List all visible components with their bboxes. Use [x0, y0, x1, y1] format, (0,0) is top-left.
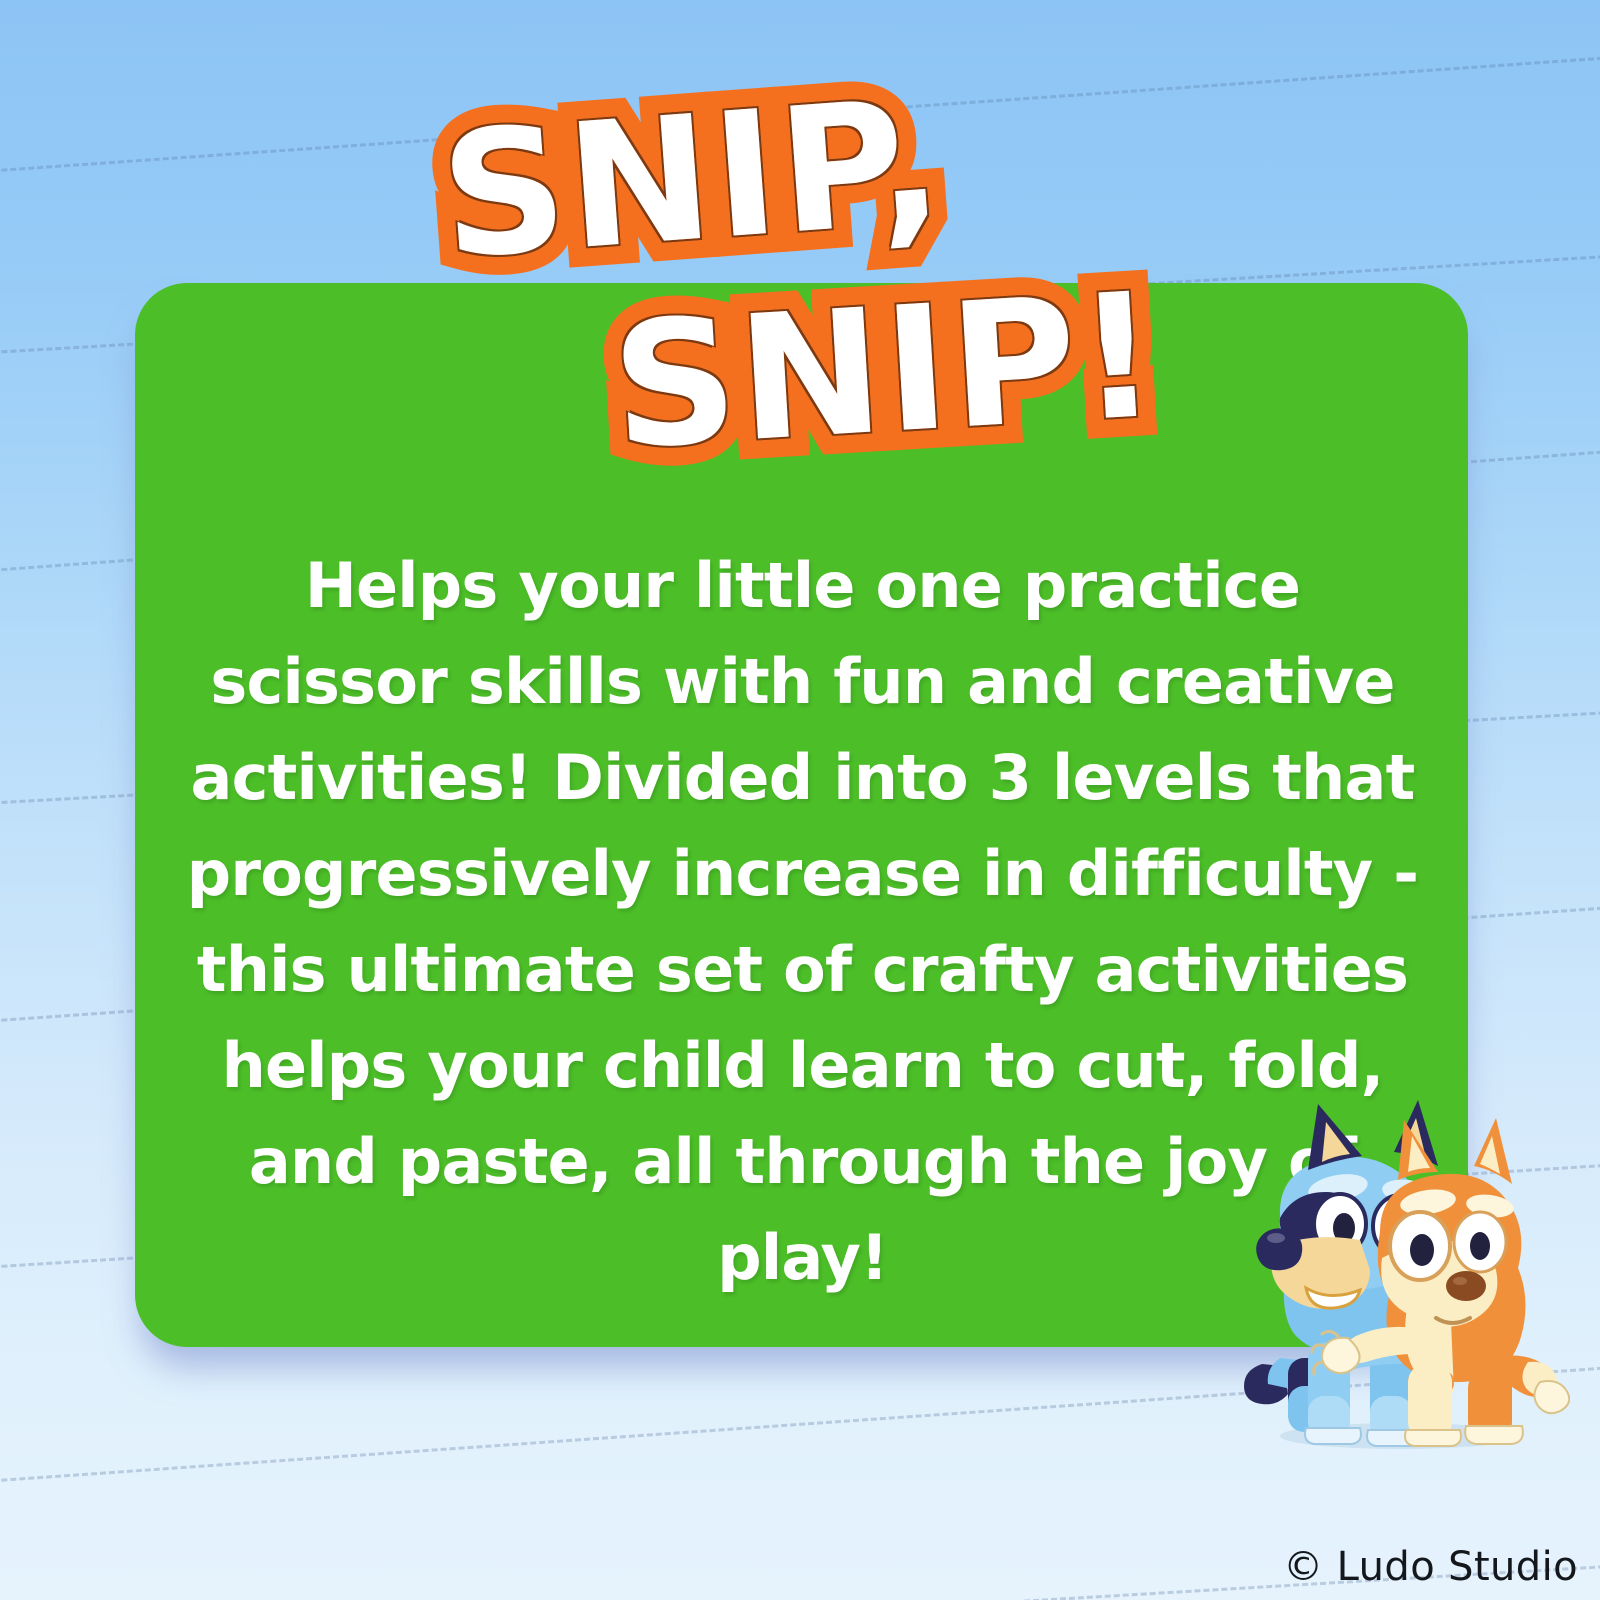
character-illustration	[1222, 1096, 1570, 1456]
bluey-and-bingo-icon	[1222, 1096, 1570, 1456]
title-line-1-fill: SNIP,	[436, 75, 949, 283]
title-line-1-outline: SNIP,	[436, 75, 949, 283]
copyright-notice: © Ludo Studio	[1283, 1544, 1578, 1590]
poster-canvas: SNIP, SNIP, SNIP! SNIP! Helps your littl…	[0, 0, 1600, 1600]
cut-line	[0, 46, 1600, 183]
